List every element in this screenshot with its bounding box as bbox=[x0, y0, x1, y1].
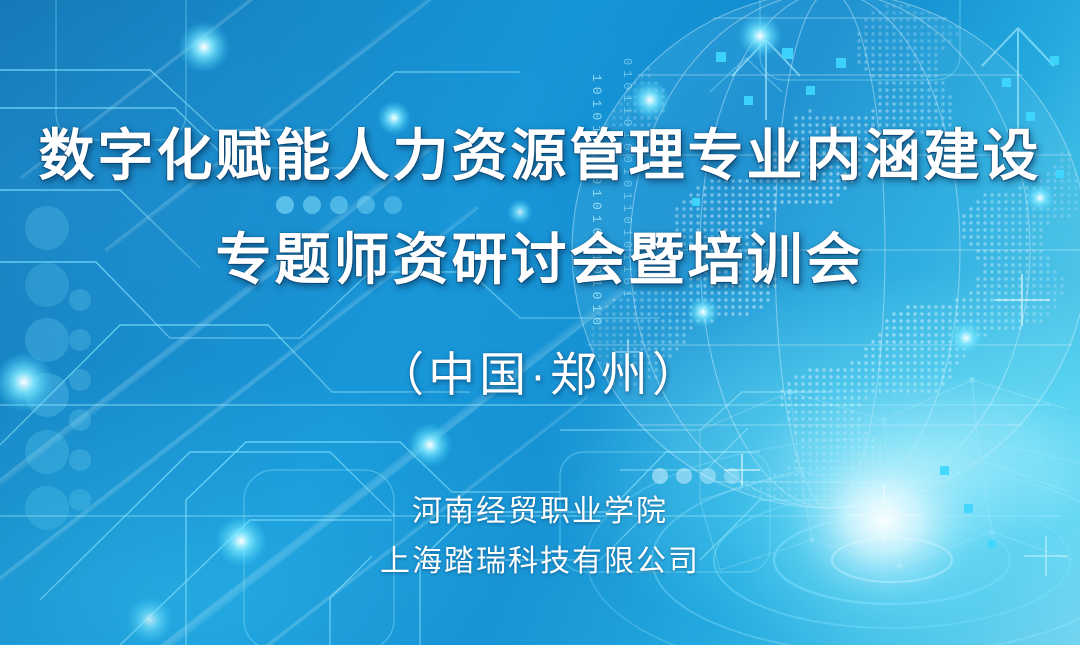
organizer-line-2: 上海踏瑞科技有限公司 bbox=[0, 545, 1080, 579]
title-line-1: 数字化赋能人力资源管理专业内涵建设 bbox=[0, 128, 1080, 184]
conference-banner: 10101011010101101010 0101101001011010110… bbox=[0, 0, 1080, 645]
title-line-2: 专题师资研讨会暨培训会 bbox=[0, 232, 1080, 288]
location-subtitle: （中国·郑州） bbox=[0, 349, 1080, 401]
organizer-line-1: 河南经贸职业学院 bbox=[0, 495, 1080, 529]
